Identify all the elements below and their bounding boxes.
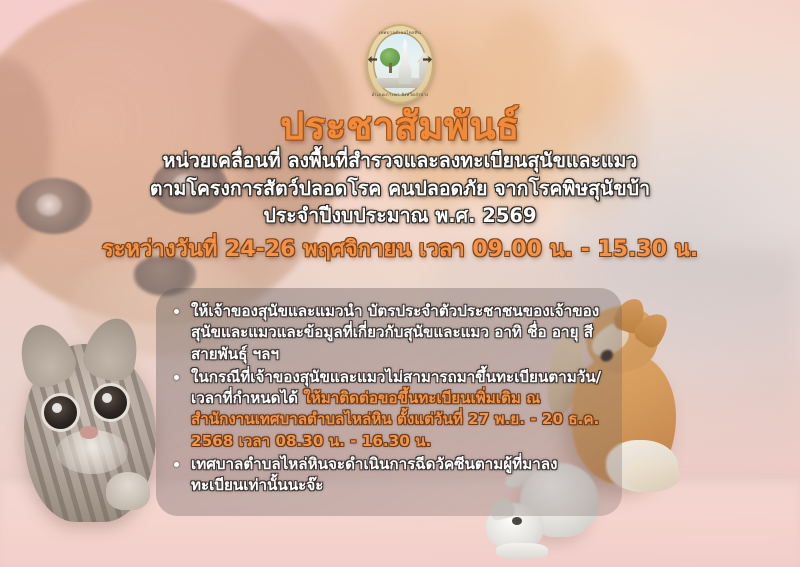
subtitle-line-1: หน่วยเคลื่อนที่ ลงพื้นที่สำรวจและลงทะเบี… (0, 147, 800, 175)
subtitle-line-3: ประจำปีงบประมาณ พ.ศ. 2569 (0, 202, 800, 230)
dog-hind-leg (624, 458, 680, 492)
cat-nose (80, 426, 98, 439)
headline-block: ประชาสัมพันธ์ หน่วยเคลื่อนที่ ลงพื้นที่ส… (0, 106, 800, 263)
cat-head-body (24, 344, 156, 522)
detail-bullet-1: ให้เจ้าของสุนัขและแมวนำ บัตรประจำตัวประช… (170, 301, 604, 365)
details-panel: ให้เจ้าของสุนัขและแมวนำ บัตรประจำตัวประช… (156, 288, 622, 516)
event-date-line: ระหว่างวันที่ 24-26 พฤศจิกายน เวลา 09.00… (0, 237, 800, 263)
kitten-eye (512, 517, 522, 525)
announcement-poster: เทศบาลตำบลไหล่หิน อำเภอเกาะคา จังหวัดลำป… (0, 0, 800, 567)
subtitle-line-2: ตามโครงการสัตว์ปลอดโรค คนปลอดภัย จากโรคพ… (0, 175, 800, 203)
cat-paw (106, 472, 150, 510)
seal-text-bottom: อำเภอเกาะคา จังหวัดลำปาง (366, 93, 434, 97)
pavilion-icon (417, 52, 427, 80)
detail-bullet-2: ในกรณีที่เจ้าของสุนัขและแมวไม่สามารถมาขึ… (170, 367, 604, 452)
cat-muzzle (56, 430, 128, 474)
detail-bullet-3: เทศบาลตำบลไหล่หินจะดำเนินการฉีดวัคซีนตาม… (170, 454, 604, 497)
details-bullet-list: ให้เจ้าของสุนัขและแมวนำ บัตรประจำตัวประช… (170, 301, 604, 497)
kitten-paws (496, 543, 548, 559)
dog-ear-right (631, 307, 673, 351)
cat-ear-right (79, 313, 144, 386)
seal-text-top: เทศบาลตำบลไหล่หิน (366, 31, 434, 35)
tree-icon (380, 48, 400, 67)
municipality-seal: เทศบาลตำบลไหล่หิน อำเภอเกาะคา จังหวัดลำป… (366, 24, 434, 104)
detail-bullet-3-segment-1: เทศบาลตำบลไหล่หินจะดำเนินการฉีดวัคซีนตาม… (191, 455, 557, 494)
page-title: ประชาสัมพันธ์ (0, 106, 800, 147)
seal-inner-disc (373, 32, 427, 96)
cat-eye-right (94, 386, 127, 419)
detail-bullet-1-segment-1: ให้เจ้าของสุนัขและแมวนำ บัตรประจำตัวประช… (191, 302, 599, 363)
cat-eye-left (44, 396, 77, 429)
cat-ear-left (10, 317, 81, 394)
tabby-cat-peeking-photo (0, 322, 164, 522)
